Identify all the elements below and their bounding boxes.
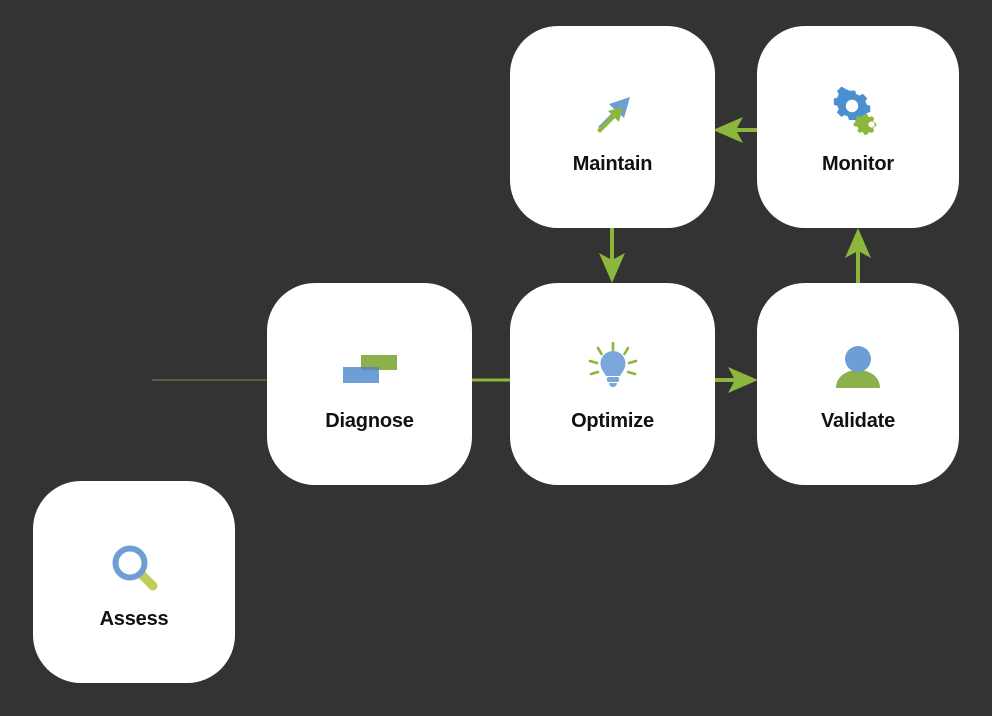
node-card-monitor[interactable]: Monitor bbox=[757, 26, 959, 228]
node-card-optimize[interactable]: Optimize bbox=[510, 283, 715, 485]
node-label-validate: Validate bbox=[821, 411, 895, 431]
growth-arrows-icon bbox=[581, 80, 645, 144]
diagram-canvas: Maintain Monitor bbox=[0, 0, 992, 716]
connector-optimize-to-validate bbox=[713, 367, 758, 393]
lightbulb-icon bbox=[581, 337, 645, 401]
gears-icon bbox=[826, 80, 890, 144]
node-label-maintain: Maintain bbox=[573, 154, 653, 174]
node-label-assess: Assess bbox=[100, 609, 169, 629]
node-card-assess[interactable]: Assess bbox=[33, 481, 235, 683]
user-icon bbox=[826, 337, 890, 401]
node-label-monitor: Monitor bbox=[822, 154, 894, 174]
node-card-maintain[interactable]: Maintain bbox=[510, 26, 715, 228]
node-label-diagnose: Diagnose bbox=[325, 411, 413, 431]
node-card-validate[interactable]: Validate bbox=[757, 283, 959, 485]
connector-maintain-to-optimize bbox=[599, 228, 625, 283]
bar-chart-icon bbox=[338, 337, 402, 401]
node-card-diagnose[interactable]: Diagnose bbox=[267, 283, 472, 485]
connector-monitor-to-maintain bbox=[713, 117, 757, 143]
connector-validate-to-monitor bbox=[845, 228, 871, 285]
magnifier-icon bbox=[102, 535, 166, 599]
node-label-optimize: Optimize bbox=[571, 411, 654, 431]
